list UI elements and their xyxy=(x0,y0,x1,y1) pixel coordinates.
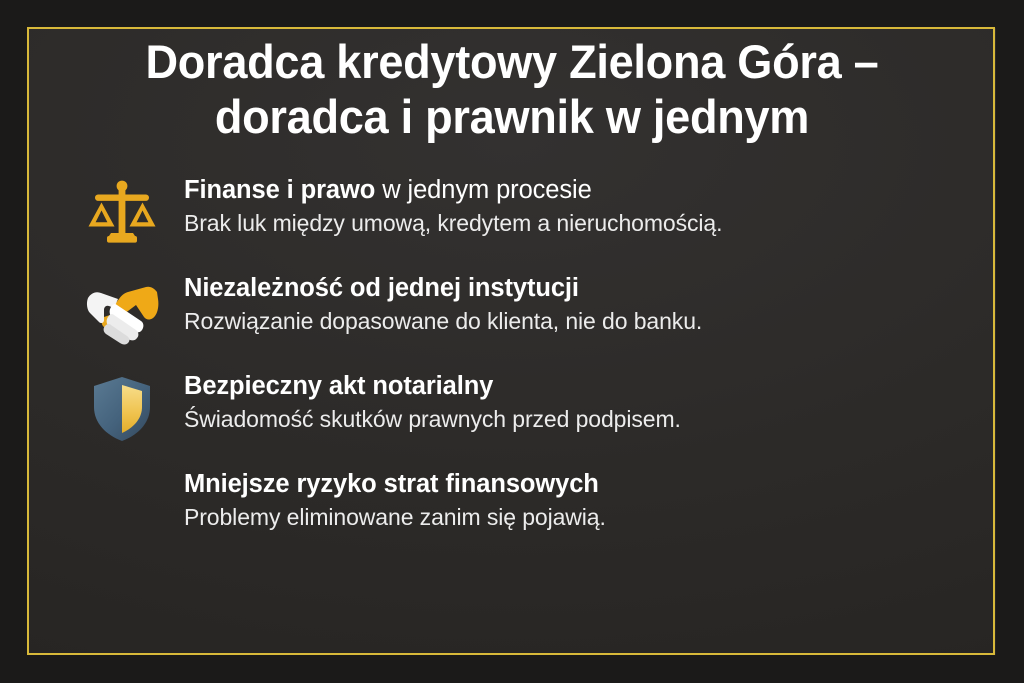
feature-title-lead: Mniejsze ryzyko strat finansowych xyxy=(184,470,599,498)
feature-title: Niezależność od jednej instytucji xyxy=(184,273,984,304)
feature-title-rest: w jednym procesie xyxy=(375,176,591,204)
scales-of-justice-icon xyxy=(84,177,160,249)
page-title: Doradca kredytowy Zielona Góra – doradca… xyxy=(59,18,965,145)
feature-subtitle: Brak luk między umową, kredytem a nieruc… xyxy=(184,209,984,238)
feature-title-lead: Bezpieczny akt notarialny xyxy=(184,372,493,400)
feature-subtitle: Świadomość skutków prawnych przed podpis… xyxy=(184,405,984,434)
feature-list: Finanse i prawo w jednym procesie Brak l… xyxy=(40,175,984,545)
feature-item-niezaleznosc: Niezależność od jednej instytucji Rozwią… xyxy=(62,273,984,349)
feature-item-finanse-i-prawo: Finanse i prawo w jednym procesie Brak l… xyxy=(62,175,984,251)
feature-title-lead: Finanse i prawo xyxy=(184,176,375,204)
feature-subtitle: Problemy eliminowane zanim się pojawią. xyxy=(184,503,984,532)
handshake-icon xyxy=(84,275,160,347)
poster: Doradca kredytowy Zielona Góra – doradca… xyxy=(0,0,1024,683)
feature-title: Bezpieczny akt notarialny xyxy=(184,371,984,402)
feature-title-lead: Niezależność od jednej instytucji xyxy=(184,274,579,302)
feature-title: Finanse i prawo w jednym procesie xyxy=(184,175,984,206)
feature-subtitle: Rozwiązanie dopasowane do klienta, nie d… xyxy=(184,307,984,336)
feature-title: Mniejsze ryzyko strat finansowych xyxy=(184,469,984,500)
feature-item-mniejsze-ryzyko: Mniejsze ryzyko strat finansowych Proble… xyxy=(62,469,984,545)
poster-content: Doradca kredytowy Zielona Góra – doradca… xyxy=(0,0,1024,683)
feature-item-akt-notarialny: Bezpieczny akt notarialny Świadomość sku… xyxy=(62,371,984,447)
shield-icon xyxy=(84,373,160,445)
